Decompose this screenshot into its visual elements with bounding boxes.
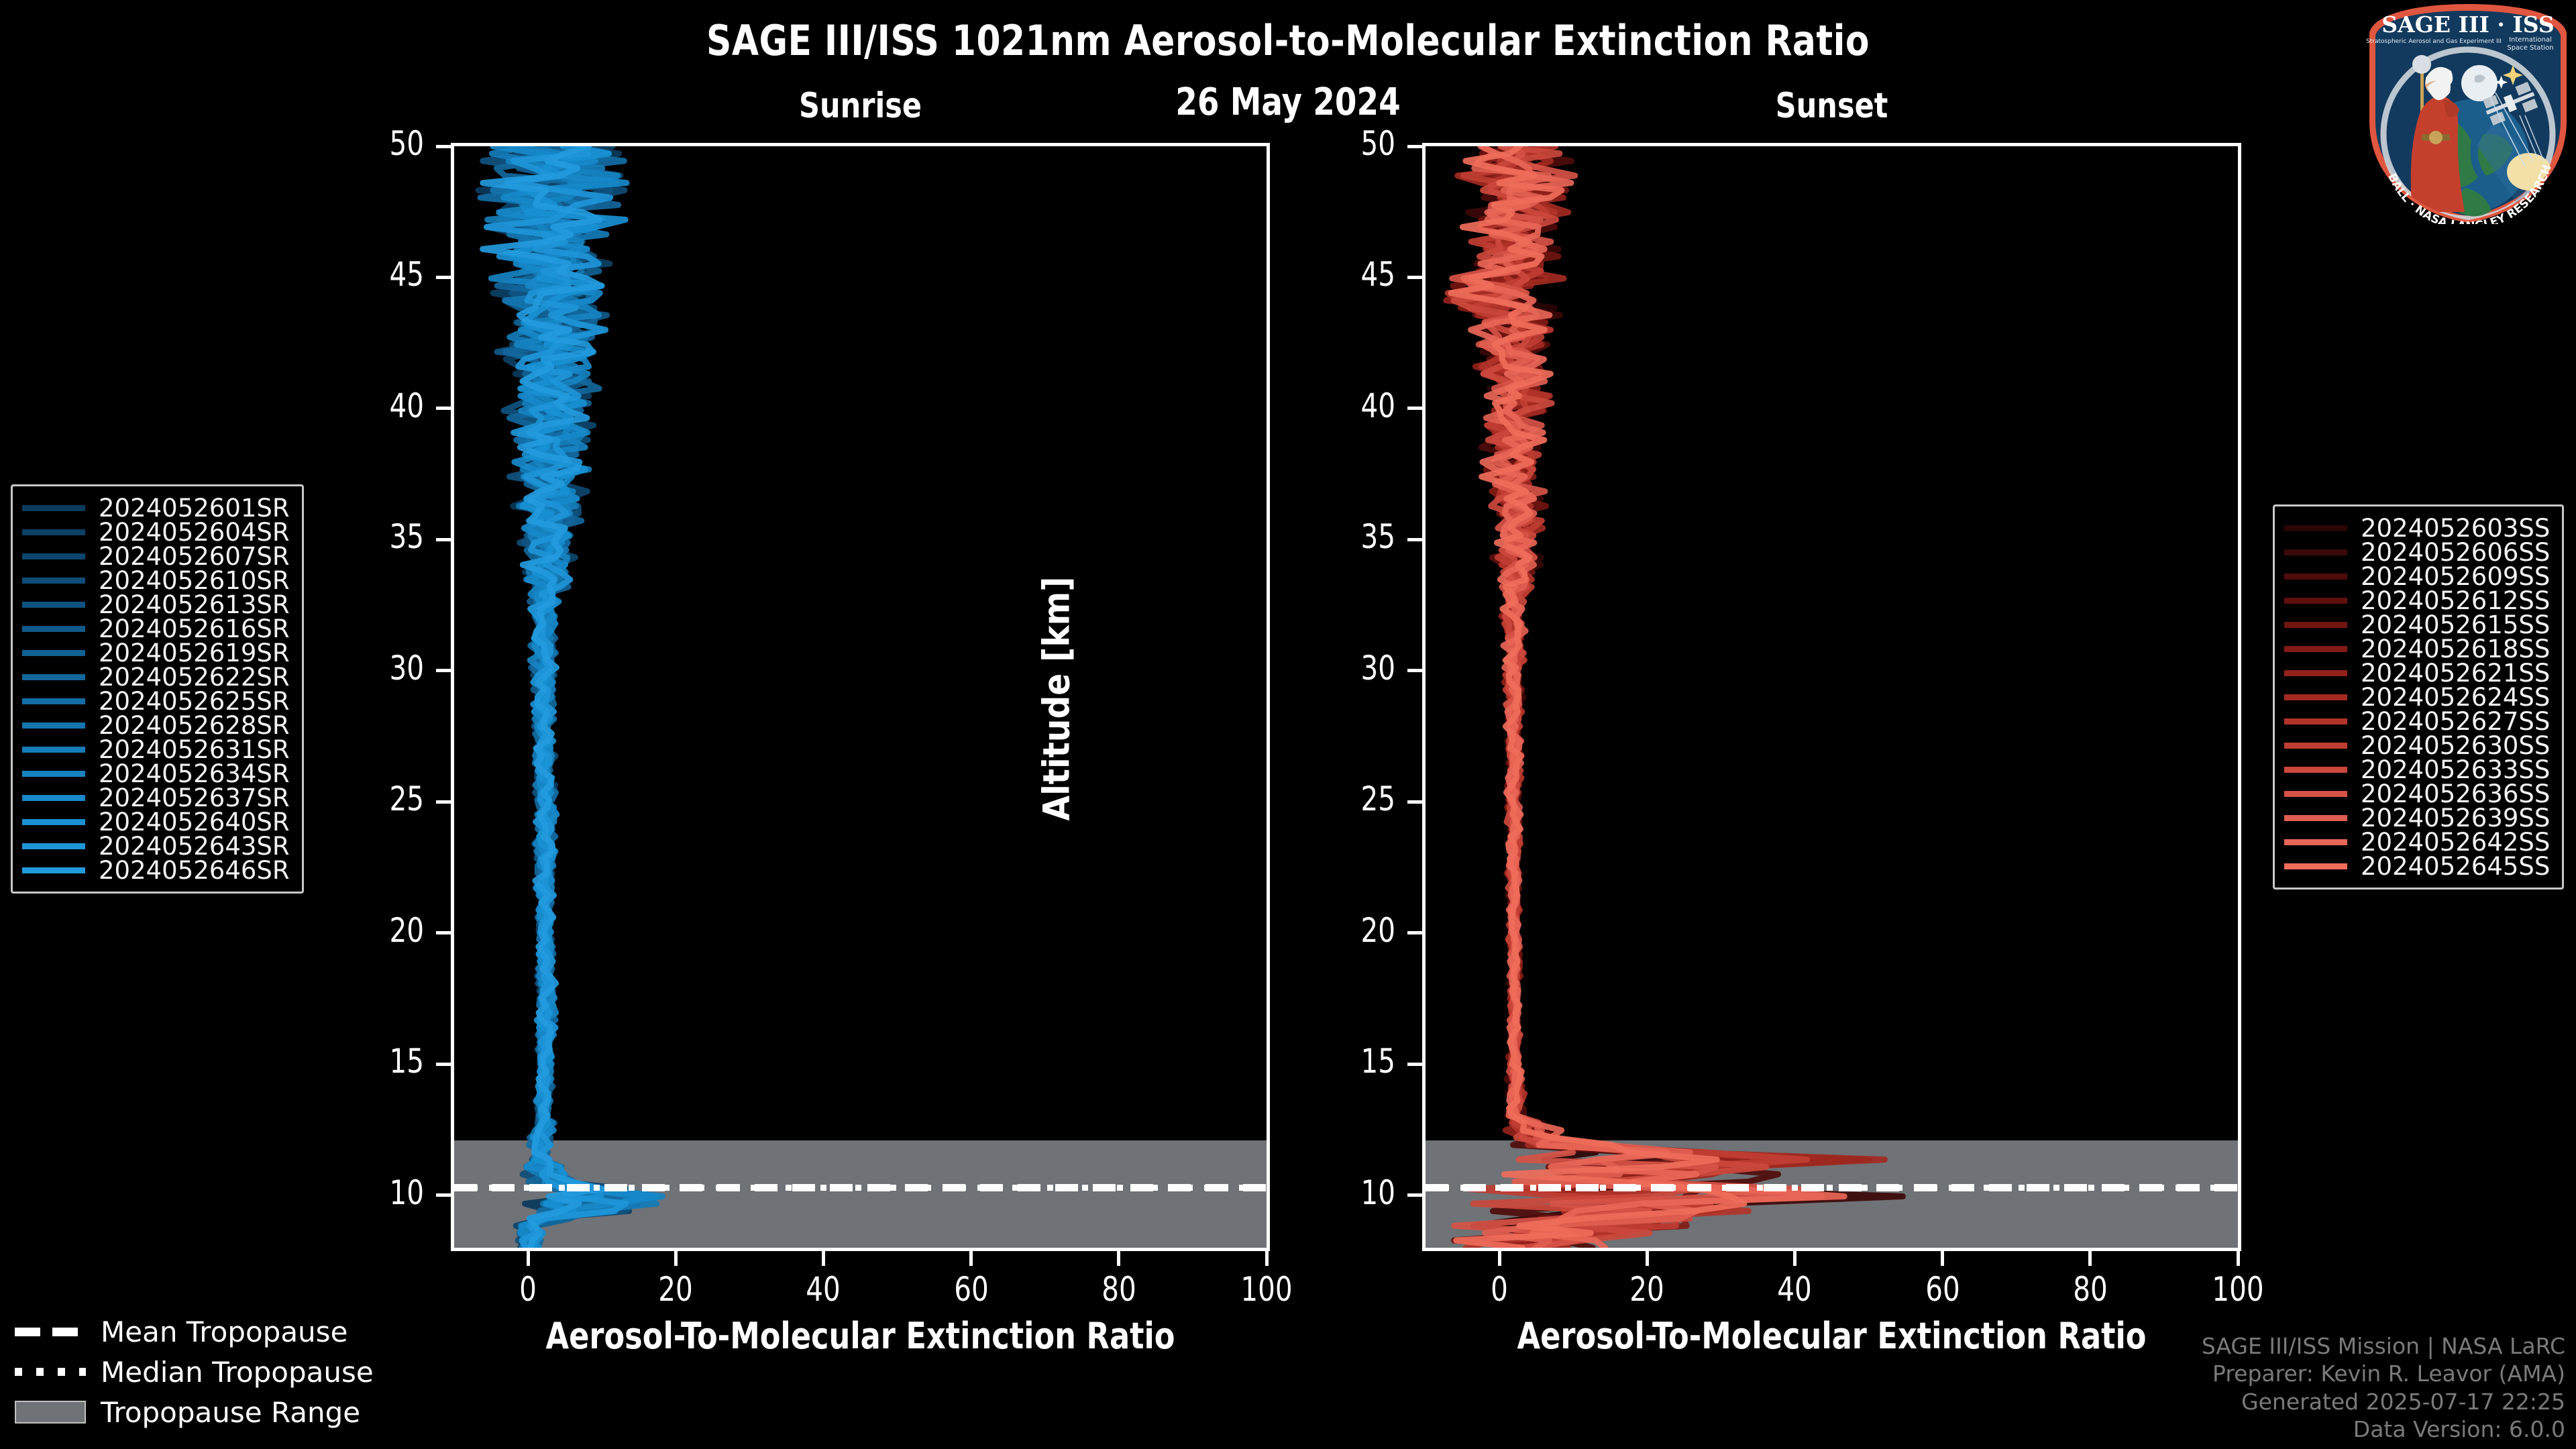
y-tick-label-left-30: 30 xyxy=(309,649,424,688)
x-tick-left-80 xyxy=(1117,1251,1120,1266)
y-tick-label-right-10: 10 xyxy=(1281,1173,1395,1212)
median-tropopause-line-sunrise xyxy=(454,1185,1267,1191)
y-tick-right-35 xyxy=(1407,538,1422,541)
credits-block: SAGE III/ISS Mission | NASA LaRCPreparer… xyxy=(2202,1332,2565,1444)
legend-item-sunrise-row[interactable]: 2024052622SR xyxy=(22,665,290,689)
credit-line: Generated 2025-07-17 22:25 xyxy=(2202,1388,2565,1416)
legend-sunrise[interactable]: 2024052601SR2024052604SR2024052607SR2024… xyxy=(11,484,304,894)
plot-clip-sunrise xyxy=(454,146,1267,1248)
legend-item-sunrise-row[interactable]: 2024052634SR xyxy=(22,761,290,786)
profile-line-2024052643SR xyxy=(486,146,626,1248)
x-tick-label-left-100: 100 xyxy=(1206,1270,1327,1309)
tropopause-legend-row[interactable]: Median Tropopause xyxy=(15,1352,374,1392)
y-tick-left-20 xyxy=(436,931,451,934)
logo-subtitle-left: Stratospheric Aerosol and Gas Experiment… xyxy=(2366,38,2502,45)
legend-item-sunset-row[interactable]: 2024052603SS xyxy=(2284,516,2550,540)
y-tick-left-15 xyxy=(436,1063,451,1066)
profile-line-2024052633SS xyxy=(1454,146,1766,1248)
y-tick-label-left-15: 15 xyxy=(309,1042,424,1081)
logo-subtitle-right-1: International xyxy=(2509,36,2552,44)
tropopause-legend-row[interactable]: Mean Tropopause xyxy=(15,1311,374,1352)
legend-color-swatch xyxy=(22,602,85,608)
tropopause-legend-row[interactable]: Tropopause Range xyxy=(15,1392,374,1432)
y-tick-label-left-45: 45 xyxy=(309,255,424,294)
x-tick-left-100 xyxy=(1265,1251,1269,1266)
legend-color-swatch xyxy=(2284,525,2347,531)
y-tick-right-20 xyxy=(1407,931,1422,934)
y-tick-label-right-25: 25 xyxy=(1281,780,1395,818)
legend-color-swatch xyxy=(2284,646,2347,652)
legend-item-sunrise-row[interactable]: 2024052610SR xyxy=(22,568,290,592)
y-tick-right-15 xyxy=(1407,1063,1422,1066)
legend-color-swatch xyxy=(22,722,85,729)
x-tick-label-left-40: 40 xyxy=(763,1270,883,1309)
x-axis-label-sunrise: Aerosol-To-Molecular Extinction Ratio xyxy=(484,1315,1237,1357)
sage-iii-iss-logo: SAGE III · ISS Stratospheric Aerosol and… xyxy=(2364,3,2572,224)
logo-subtitle-right-2: Space Station xyxy=(2507,44,2553,52)
legend-item-sunset-row[interactable]: 2024052639SS xyxy=(2284,806,2550,830)
x-tick-label-right-40: 40 xyxy=(1734,1270,1855,1309)
legend-color-swatch xyxy=(22,505,85,511)
x-tick-left-60 xyxy=(969,1251,973,1266)
legend-item-sunrise-row[interactable]: 2024052628SR xyxy=(22,713,290,737)
credit-line: Preparer: Kevin R. Leavor (AMA) xyxy=(2202,1360,2565,1388)
panel-title-sunrise: Sunrise xyxy=(484,86,1237,126)
credit-line: Data Version: 6.0.0 xyxy=(2202,1415,2565,1444)
legend-item-sunrise-row[interactable]: 2024052625SR xyxy=(22,689,290,713)
tropopause-legend-swatch xyxy=(15,1323,86,1340)
legend-color-swatch xyxy=(2284,839,2347,845)
x-tick-right-60 xyxy=(1941,1251,1944,1266)
page-title: SAGE III/ISS 1021nm Aerosol-to-Molecular… xyxy=(90,16,2485,65)
y-tick-right-30 xyxy=(1407,669,1422,672)
legend-item-sunset-row[interactable]: 2024052630SS xyxy=(2284,733,2550,757)
legend-item-sunset-row[interactable]: 2024052645SS xyxy=(2284,854,2550,878)
y-tick-left-25 xyxy=(436,800,451,804)
plot-area-sunset xyxy=(1422,143,2241,1251)
y-tick-label-right-35: 35 xyxy=(1281,517,1395,556)
legend-label: 2024052645SS xyxy=(2361,852,2550,881)
legend-item-sunset-row[interactable]: 2024052642SS xyxy=(2284,830,2550,854)
y-tick-label-right-30: 30 xyxy=(1281,649,1395,688)
y-tick-label-right-15: 15 xyxy=(1281,1042,1395,1081)
y-tick-right-50 xyxy=(1407,145,1422,148)
legend-color-swatch xyxy=(2284,791,2347,797)
x-tick-right-20 xyxy=(1646,1251,1649,1266)
y-tick-right-40 xyxy=(1407,407,1422,410)
legend-color-swatch xyxy=(22,771,85,777)
figure-canvas: SAGE III/ISS 1021nm Aerosol-to-Molecular… xyxy=(0,0,2576,1449)
x-tick-label-left-80: 80 xyxy=(1059,1270,1179,1309)
range-patch-icon xyxy=(15,1401,86,1424)
legend-item-sunrise-row[interactable]: 2024052619SR xyxy=(22,641,290,665)
x-tick-label-left-20: 20 xyxy=(615,1270,736,1309)
legend-color-swatch xyxy=(22,698,85,704)
legend-item-sunset-row[interactable]: 2024052609SS xyxy=(2284,564,2550,588)
logo-moon xyxy=(2461,65,2498,101)
x-tick-left-40 xyxy=(822,1251,825,1266)
y-tick-label-right-20: 20 xyxy=(1281,911,1395,950)
logo-title: SAGE III · ISS xyxy=(2381,11,2554,38)
legend-item-sunset-row[interactable]: 2024052606SS xyxy=(2284,540,2550,564)
legend-color-swatch xyxy=(2284,743,2347,749)
y-tick-right-45 xyxy=(1407,276,1422,279)
x-axis-label-sunset: Aerosol-To-Molecular Extinction Ratio xyxy=(1455,1315,2208,1357)
legend-color-swatch xyxy=(22,529,85,535)
legend-color-swatch xyxy=(2284,767,2347,773)
dotted-line-icon xyxy=(15,1368,86,1376)
x-tick-label-left-0: 0 xyxy=(468,1270,588,1309)
y-tick-left-30 xyxy=(436,669,451,672)
y-tick-left-45 xyxy=(436,276,451,279)
legend-item-sunset-row[interactable]: 2024052624SS xyxy=(2284,685,2550,709)
x-tick-right-80 xyxy=(2088,1251,2092,1266)
tropopause-legend-label: Median Tropopause xyxy=(101,1356,374,1389)
y-tick-left-35 xyxy=(436,538,451,541)
profile-curves-sunrise xyxy=(454,146,1267,1248)
legend-item-sunrise-row[interactable]: 2024052616SR xyxy=(22,616,290,641)
legend-color-swatch xyxy=(22,626,85,632)
median-tropopause-line-sunset xyxy=(1426,1185,2238,1191)
dashed-line-icon xyxy=(15,1328,86,1336)
legend-tropopause[interactable]: Mean TropopauseMedian TropopauseTropopau… xyxy=(15,1311,374,1432)
legend-color-swatch xyxy=(2284,549,2347,555)
x-tick-label-right-20: 20 xyxy=(1587,1270,1707,1309)
legend-color-swatch xyxy=(22,843,85,849)
legend-item-sunset-row[interactable]: 2024052633SS xyxy=(2284,757,2550,782)
y-tick-label-left-10: 10 xyxy=(309,1173,424,1212)
tropopause-legend-swatch xyxy=(15,1403,86,1421)
x-tick-label-right-80: 80 xyxy=(2030,1270,2151,1309)
legend-item-sunrise-row[interactable]: 2024052640SR xyxy=(22,810,290,834)
legend-item-sunset-row[interactable]: 2024052636SS xyxy=(2284,782,2550,806)
legend-color-swatch xyxy=(2284,694,2347,700)
legend-item-sunset-row[interactable]: 2024052627SS xyxy=(2284,709,2550,733)
y-tick-label-right-50: 50 xyxy=(1281,124,1395,163)
sage-patch-icon: SAGE III · ISS Stratospheric Aerosol and… xyxy=(2364,3,2572,224)
panel-title-sunset: Sunset xyxy=(1455,86,2208,126)
y-tick-label-left-25: 25 xyxy=(309,780,424,818)
y-tick-left-50 xyxy=(436,145,451,148)
tropopause-legend-swatch xyxy=(15,1363,86,1381)
y-tick-label-left-40: 40 xyxy=(309,386,424,425)
y-tick-right-10 xyxy=(1407,1193,1422,1197)
legend-color-swatch xyxy=(2284,574,2347,580)
x-tick-label-left-60: 60 xyxy=(911,1270,1032,1309)
credit-line: SAGE III/ISS Mission | NASA LaRC xyxy=(2202,1332,2565,1360)
legend-item-sunset-row[interactable]: 2024052615SS xyxy=(2284,612,2550,637)
legend-color-swatch xyxy=(22,819,85,825)
legend-item-sunrise-row[interactable]: 2024052637SR xyxy=(22,786,290,810)
legend-label: 2024052646SR xyxy=(99,856,290,885)
tropopause-legend-label: Tropopause Range xyxy=(101,1396,360,1429)
legend-color-swatch xyxy=(2284,598,2347,604)
y-tick-label-left-20: 20 xyxy=(309,911,424,950)
y-tick-label-right-45: 45 xyxy=(1281,255,1395,294)
legend-item-sunrise-row[interactable]: 2024052631SR xyxy=(22,737,290,761)
legend-item-sunset-row[interactable]: 2024052621SS xyxy=(2284,661,2550,685)
plot-area-sunrise xyxy=(451,143,1270,1251)
x-tick-label-right-100: 100 xyxy=(2178,1270,2298,1309)
y-tick-right-25 xyxy=(1407,800,1422,804)
legend-color-swatch xyxy=(22,795,85,801)
legend-color-swatch xyxy=(2284,863,2347,869)
x-tick-left-0 xyxy=(527,1251,530,1266)
legend-item-sunrise-row[interactable]: 2024052607SR xyxy=(22,544,290,568)
x-tick-right-0 xyxy=(1498,1251,1501,1266)
legend-color-swatch xyxy=(22,578,85,584)
legend-item-sunrise-row[interactable]: 2024052604SR xyxy=(22,520,290,544)
legend-item-sunrise-row[interactable]: 2024052643SR xyxy=(22,834,290,858)
y-axis-label-sunset: Altitude [km] xyxy=(1036,545,1078,853)
legend-item-sunrise-row[interactable]: 2024052646SR xyxy=(22,858,290,882)
y-tick-label-right-40: 40 xyxy=(1281,386,1395,425)
tropopause-legend-label: Mean Tropopause xyxy=(101,1316,347,1348)
y-tick-label-left-50: 50 xyxy=(309,124,424,163)
legend-color-swatch xyxy=(2284,718,2347,724)
x-tick-left-20 xyxy=(674,1251,678,1266)
y-tick-label-left-35: 35 xyxy=(309,517,424,556)
profile-curves-sunset xyxy=(1426,146,2238,1248)
legend-color-swatch xyxy=(2284,815,2347,821)
legend-item-sunrise-row[interactable]: 2024052601SR xyxy=(22,496,290,520)
x-tick-label-right-0: 0 xyxy=(1439,1270,1560,1309)
legend-item-sunset-row[interactable]: 2024052618SS xyxy=(2284,637,2550,661)
legend-sunset[interactable]: 2024052603SS2024052606SS2024052609SS2024… xyxy=(2273,504,2564,890)
x-tick-label-right-60: 60 xyxy=(1882,1270,2003,1309)
legend-color-swatch xyxy=(22,674,85,680)
legend-item-sunrise-row[interactable]: 2024052613SR xyxy=(22,592,290,616)
legend-color-swatch xyxy=(22,553,85,559)
legend-color-swatch xyxy=(2284,622,2347,628)
legend-item-sunset-row[interactable]: 2024052612SS xyxy=(2284,588,2550,612)
y-tick-left-10 xyxy=(436,1193,451,1197)
legend-color-swatch xyxy=(22,867,85,873)
y-tick-left-40 xyxy=(436,407,451,410)
legend-color-swatch xyxy=(2284,670,2347,676)
plot-clip-sunset xyxy=(1426,146,2238,1248)
legend-color-swatch xyxy=(22,650,85,656)
x-tick-right-100 xyxy=(2237,1251,2240,1266)
legend-color-swatch xyxy=(22,747,85,753)
x-tick-right-40 xyxy=(1793,1251,1796,1266)
